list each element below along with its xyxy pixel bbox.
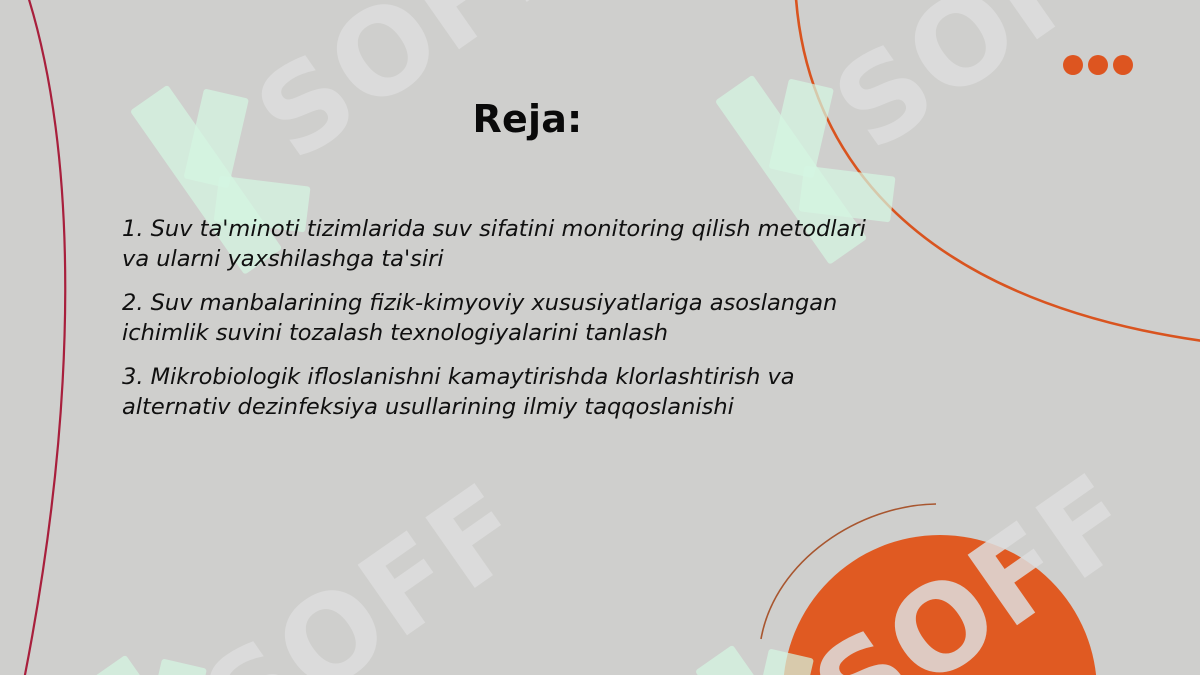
list-item: 2. Suv manbalarining fizik-kimyoviy xusu…	[122, 288, 882, 348]
list-item: 1. Suv ta'minoti tizimlarida suv sifatin…	[122, 214, 882, 274]
page-title: Reja:	[0, 97, 1055, 141]
slide-content: Reja: 1. Suv ta'minoti tizimlarida suv s…	[0, 0, 1200, 675]
list-item: 3. Mikrobiologik ifloslanishni kamaytiri…	[122, 362, 882, 422]
slide-canvas: SOFF SOFF SOFF SOFF	[0, 0, 1200, 675]
